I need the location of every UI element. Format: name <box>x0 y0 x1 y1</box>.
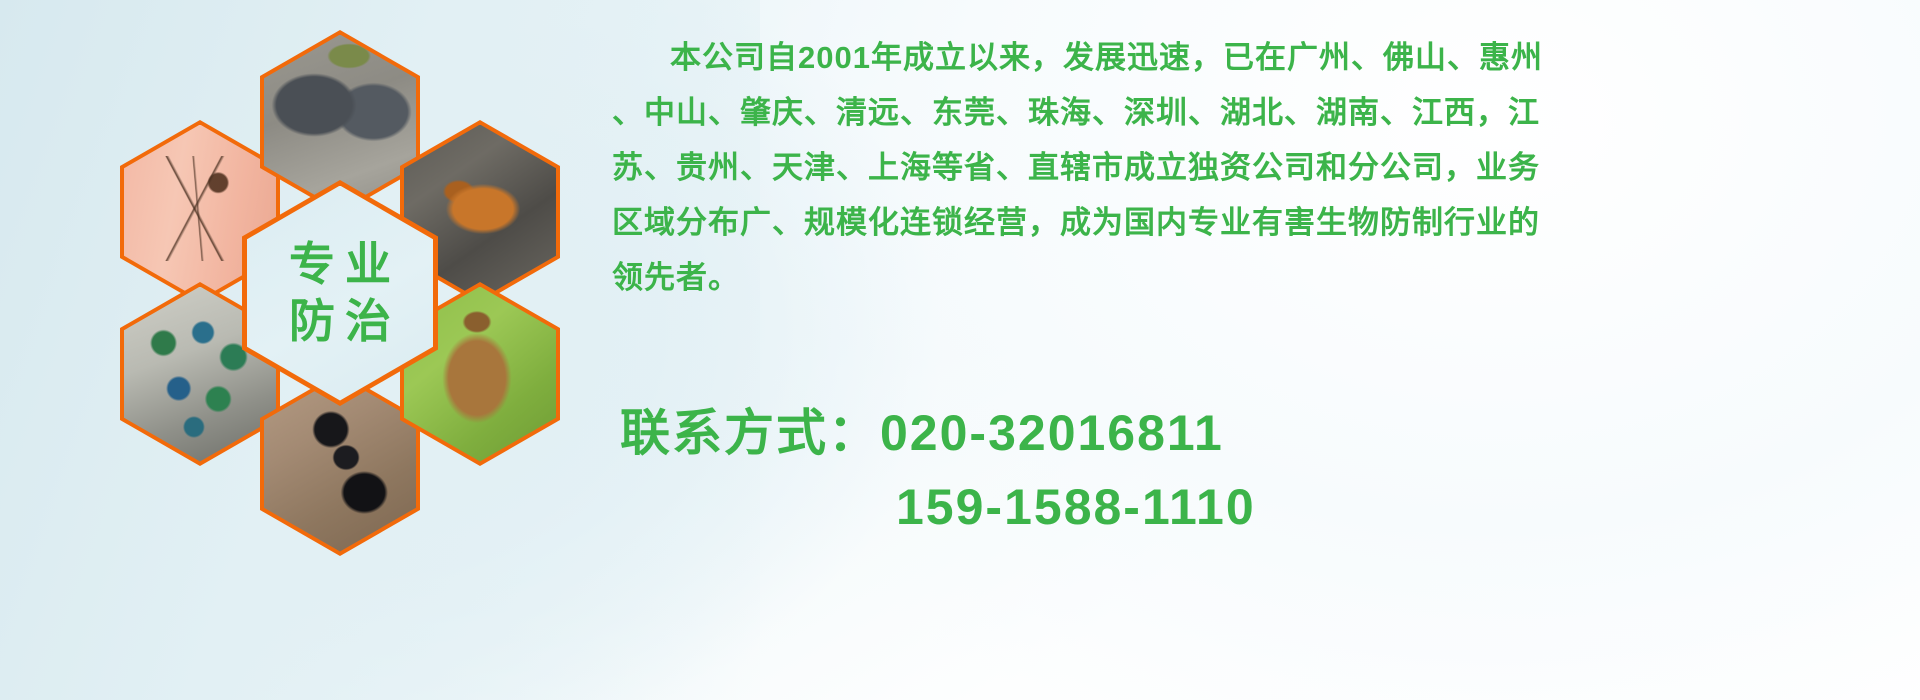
description-line: 苏、贵州、天津、上海等省、直辖市成立独资公司和分公司，业务 <box>612 140 1912 195</box>
description-line: 本公司自2001年成立以来，发展迅速，已在广州、佛山、惠州 <box>612 30 1912 85</box>
description-line: 领先者。 <box>612 250 1912 305</box>
hexagon-photo-cluster: 专业 防治 <box>90 10 590 570</box>
contact-phone-primary[interactable]: 020-32016811 <box>880 405 1224 461</box>
description-line: 区域分布广、规模化连锁经营，成为国内专业有害生物防制行业的 <box>612 195 1912 250</box>
description-line: 、中山、肇庆、清远、东莞、珠海、深圳、湖北、湖南、江西，江 <box>612 85 1912 140</box>
company-description: 本公司自2001年成立以来，发展迅速，已在广州、佛山、惠州 、中山、肇庆、清远、… <box>612 30 1912 305</box>
contact-block: 联系方式：020-32016811 159-1588-1110 <box>620 396 1256 544</box>
contact-phone-secondary[interactable]: 159-1588-1110 <box>896 479 1256 535</box>
contact-primary-line: 联系方式：020-32016811 <box>620 396 1256 470</box>
hex-center-background <box>247 186 433 401</box>
promo-banner: 专业 防治 本公司自2001年成立以来，发展迅速，已在广州、佛山、惠州 、中山、… <box>0 0 1920 700</box>
contact-secondary-line: 159-1588-1110 <box>620 470 1256 544</box>
contact-label: 联系方式： <box>620 405 880 461</box>
